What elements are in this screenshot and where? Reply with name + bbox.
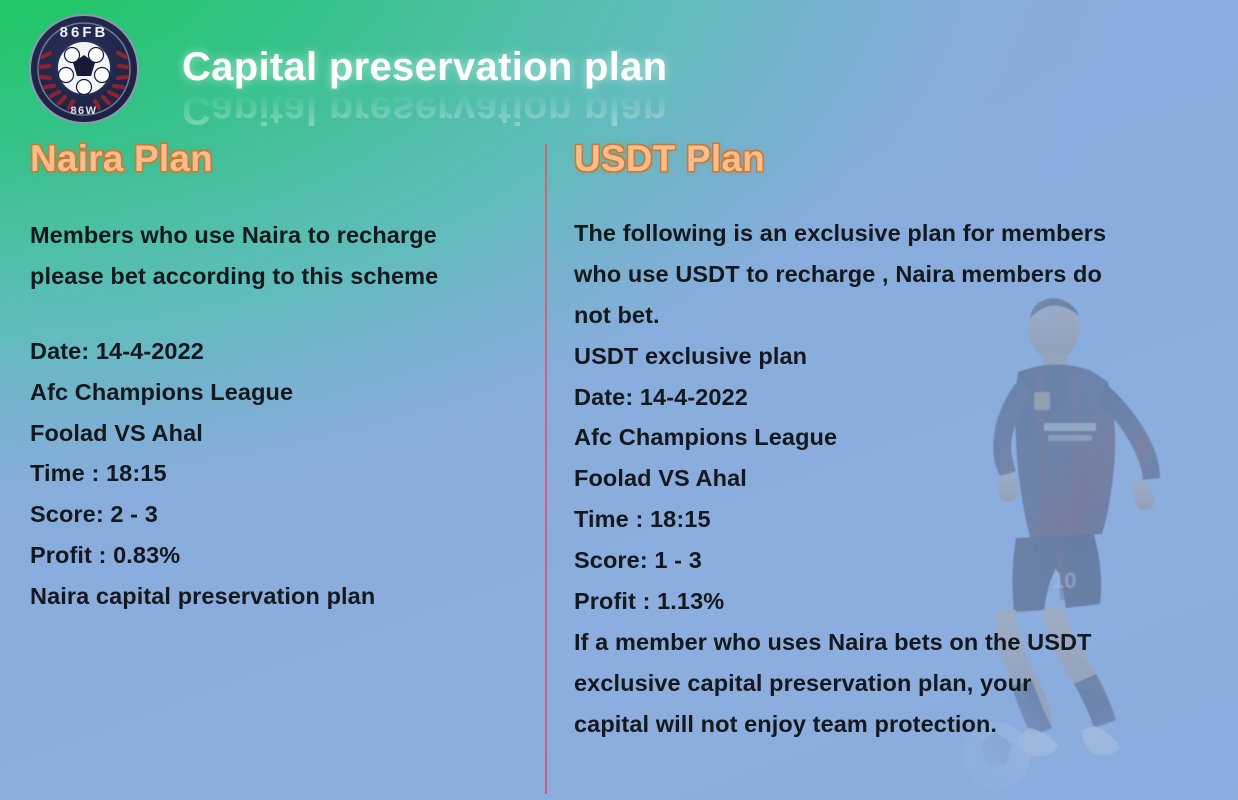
usdt-plan-column: USDT Plan The following is an exclusive … [574,140,1219,744]
usdt-exclusive-label: USDT exclusive plan [574,336,1219,377]
plans-container: Naira Plan Members who use Naira to rech… [0,140,1238,800]
usdt-plan-warning: If a member who uses Naira bets on the U… [574,622,1219,745]
usdt-fixture: Foolad VS Ahal [574,458,1219,499]
logo-top-text: 86FB [60,24,109,41]
usdt-score: Score: 1 - 3 [574,540,1219,581]
svg-text:86FB: 86FB [60,24,109,41]
naira-date: Date: 14-4-2022 [30,331,535,372]
usdt-warning-line-3: capital will not enjoy team protection. [574,704,1219,745]
naira-intro-line-1: Members who use Naira to recharge [30,215,535,256]
usdt-date: Date: 14-4-2022 [574,377,1219,418]
usdt-league: Afc Champions League [574,417,1219,458]
usdt-plan-match-details: Date: 14-4-2022 Afc Champions League Foo… [574,377,1219,622]
naira-footer: Naira capital preservation plan [30,576,535,617]
page-title-reflection: Capital preservation plan [182,90,667,130]
column-divider [545,144,547,794]
naira-fixture: Foolad VS Ahal [30,413,535,454]
naira-league: Afc Champions League [30,372,535,413]
usdt-profit: Profit : 1.13% [574,581,1219,622]
page-title: Capital preservation plan Capital preser… [182,47,667,133]
header: 86FB 86W Capital preservation plan Capit… [0,0,1238,140]
usdt-intro-line-2: who use USDT to recharge , Naira members… [574,254,1219,295]
logo-bottom-text: 86W [70,105,97,117]
usdt-intro-line-3: not bet. [574,295,1219,336]
usdt-warning-line-2: exclusive capital preservation plan, you… [574,663,1219,704]
naira-score: Score: 2 - 3 [30,494,535,535]
soccer-ball-badge-icon: 86FB 86W [28,13,140,125]
poster-canvas: 10 [0,0,1238,800]
usdt-warning-line-1: If a member who uses Naira bets on the U… [574,622,1219,663]
naira-plan-column: Naira Plan Members who use Naira to rech… [30,140,535,617]
naira-plan-match-details: Date: 14-4-2022 Afc Champions League Foo… [30,331,535,617]
usdt-intro-line-1: The following is an exclusive plan for m… [574,213,1219,254]
usdt-plan-heading: USDT Plan [574,140,1219,177]
naira-plan-heading: Naira Plan [30,140,535,177]
page-title-text: Capital preservation plan [182,47,667,87]
naira-plan-intro: Members who use Naira to recharge please… [30,215,535,297]
usdt-time: Time : 18:15 [574,499,1219,540]
naira-profit: Profit : 0.83% [30,535,535,576]
svg-text:86W: 86W [70,105,97,117]
naira-intro-line-2: please bet according to this scheme [30,256,535,297]
usdt-plan-intro: The following is an exclusive plan for m… [574,213,1219,377]
naira-time: Time : 18:15 [30,453,535,494]
